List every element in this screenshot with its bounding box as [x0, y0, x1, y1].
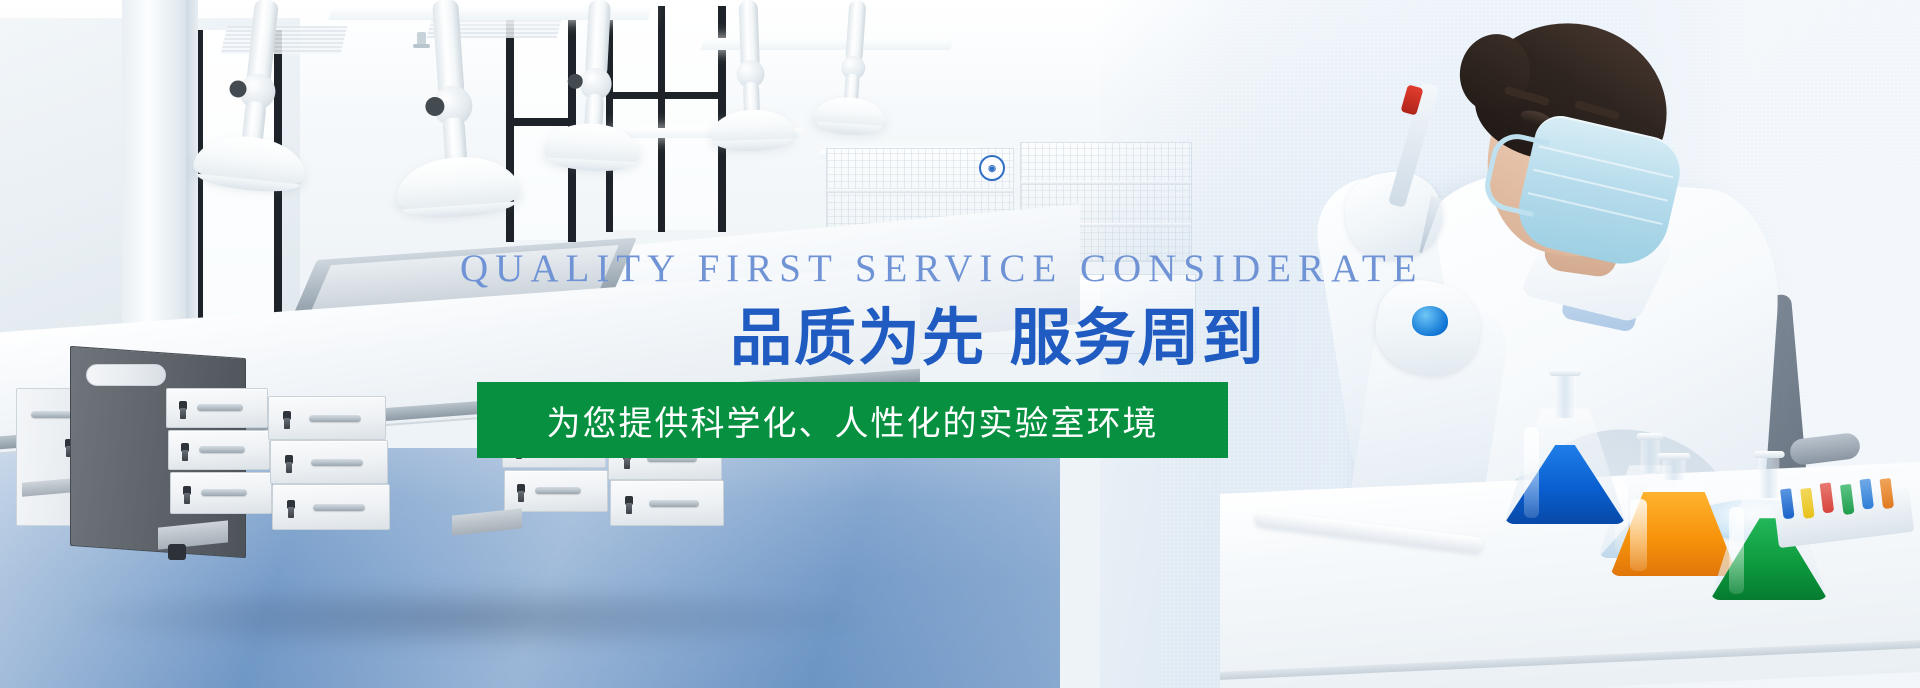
banner-text-block: QUALITY FIRST SERVICE CONSIDERATE 品质为先 服…: [0, 0, 1920, 688]
subtitle-green-band: 为您提供科学化、人性化的实验室环境: [477, 382, 1228, 458]
subtitle-chinese: 为您提供科学化、人性化的实验室环境: [547, 396, 1159, 445]
headline-chinese: 品质为先 服务周到: [730, 302, 1266, 374]
english-tagline: QUALITY FIRST SERVICE CONSIDERATE: [460, 248, 1424, 290]
laboratory-hero-banner[interactable]: ◉: [0, 0, 1920, 688]
